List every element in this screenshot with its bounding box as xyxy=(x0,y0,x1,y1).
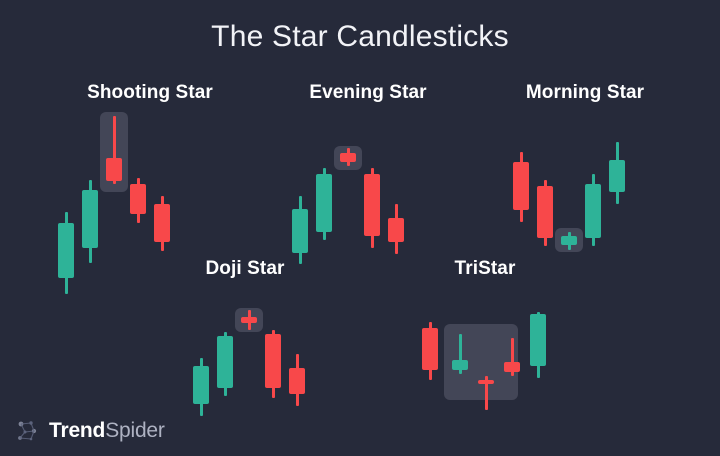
candle-body xyxy=(609,160,625,192)
candle-bearish xyxy=(265,284,281,444)
page-title: The Star Candlesticks xyxy=(0,20,720,54)
pattern-evening-star: Evening Star xyxy=(278,82,458,272)
candle-bullish xyxy=(193,284,209,444)
candle-bearish xyxy=(504,284,520,444)
logo-wordmark: TrendSpider xyxy=(49,419,165,443)
candle-body xyxy=(388,218,404,242)
candle-body xyxy=(452,360,468,370)
pattern-shooting-star: Shooting Star xyxy=(50,82,250,272)
candlestick-chart xyxy=(50,108,250,268)
candle-bearish xyxy=(289,284,305,444)
candle-bearish xyxy=(106,108,122,268)
pattern-label: Shooting Star xyxy=(50,82,250,104)
candle-bearish xyxy=(478,284,494,444)
candle-body xyxy=(537,186,553,238)
candle-bullish xyxy=(58,108,74,268)
candlestick-chart xyxy=(400,284,570,444)
candle-bullish xyxy=(530,284,546,444)
candle-body xyxy=(241,317,257,323)
candle-body xyxy=(513,162,529,210)
pattern-tristar: TriStar xyxy=(400,258,570,448)
candlestick-chart xyxy=(485,108,685,268)
candle-body xyxy=(82,190,98,248)
candle-body xyxy=(289,368,305,394)
candle-bullish xyxy=(82,108,98,268)
candle-body xyxy=(364,174,380,236)
candle-body xyxy=(530,314,546,366)
candle-body xyxy=(561,236,577,245)
pattern-label: Morning Star xyxy=(485,82,685,104)
logo-word-spider: Spider xyxy=(105,419,165,442)
pattern-label: Evening Star xyxy=(278,82,458,104)
candle-bearish xyxy=(364,108,380,268)
candle-bearish xyxy=(154,108,170,268)
candle-body xyxy=(504,362,520,372)
pattern-morning-star: Morning Star xyxy=(485,82,685,272)
candle-body xyxy=(217,336,233,388)
candle-body xyxy=(193,366,209,404)
candle-body xyxy=(106,158,122,181)
candle-body xyxy=(340,153,356,162)
candle-body xyxy=(58,223,74,278)
candle-bearish xyxy=(513,108,529,268)
candle-body xyxy=(316,174,332,232)
candle-body xyxy=(154,204,170,242)
candlestick-chart xyxy=(278,108,458,268)
candle-bearish xyxy=(130,108,146,268)
candle-body xyxy=(478,380,494,384)
candle-bearish xyxy=(241,284,257,444)
pattern-label: TriStar xyxy=(400,258,570,280)
candle-bullish xyxy=(585,108,601,268)
candle-body xyxy=(130,184,146,214)
candle-bearish xyxy=(537,108,553,268)
candle-bullish xyxy=(561,108,577,268)
candlestick-chart xyxy=(165,284,325,444)
candle-body xyxy=(292,209,308,253)
candle-bullish xyxy=(292,108,308,268)
candle-bearish xyxy=(422,284,438,444)
candle-bearish xyxy=(340,108,356,268)
candle-body xyxy=(265,334,281,388)
pattern-label: Doji Star xyxy=(165,258,325,280)
candle-bearish xyxy=(388,108,404,268)
candle-bullish xyxy=(609,108,625,268)
candle-body xyxy=(585,184,601,238)
candle-bullish xyxy=(452,284,468,444)
candle-bullish xyxy=(316,108,332,268)
candle-body xyxy=(422,328,438,370)
slide-canvas: The Star Candlesticks Shooting StarEveni… xyxy=(0,0,720,456)
trendspider-logo-icon xyxy=(14,418,40,444)
logo-word-trend: Trend xyxy=(49,419,105,442)
pattern-doji-star: Doji Star xyxy=(165,258,325,448)
candle-bullish xyxy=(217,284,233,444)
brand-logo: TrendSpider xyxy=(14,418,165,444)
